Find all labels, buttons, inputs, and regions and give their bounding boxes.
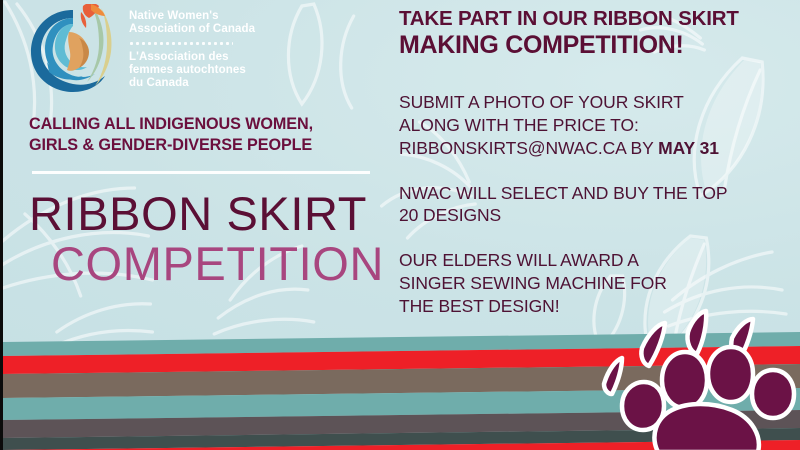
submit-email-line: RIBBONSKIRTS@NWAC.CA BY MAY 31: [399, 137, 789, 160]
page-subtitle: COMPETITION: [51, 240, 389, 288]
logo-line-en-2: Association of Canada: [129, 23, 255, 36]
headline-line-2: MAKING COMPETITION!: [399, 32, 789, 60]
nwac-logo: Native Women's Association of Canada L'A…: [25, 4, 255, 96]
bear-paw-icon: [586, 320, 796, 450]
select-line-2: 20 DESIGNS: [399, 204, 789, 227]
logo-beaded-divider: [129, 41, 233, 46]
selection-info: NWAC WILL SELECT AND BUY THE TOP 20 DESI…: [399, 182, 789, 228]
submit-line-2: ALONG WITH THE PRICE TO:: [399, 114, 789, 137]
elders-line-1: OUR ELDERS WILL AWARD A: [399, 249, 789, 272]
select-line-1: NWAC WILL SELECT AND BUY THE TOP: [399, 182, 789, 205]
calling-line-1: CALLING ALL INDIGENOUS WOMEN,: [29, 114, 389, 135]
nwac-logo-text: Native Women's Association of Canada L'A…: [129, 4, 255, 89]
logo-line-fr-1: L'Association des: [129, 51, 255, 64]
contact-email: RIBBONSKIRTS@NWAC.CA BY: [399, 138, 658, 158]
nwac-logo-icon: [25, 4, 121, 96]
elders-line-3: THE BEST DESIGN!: [399, 295, 789, 318]
submit-instructions: SUBMIT A PHOTO OF YOUR SKIRT ALONG WITH …: [399, 91, 789, 159]
calling-audience: CALLING ALL INDIGENOUS WOMEN, GIRLS & GE…: [29, 114, 389, 157]
page-title: RIBBON SKIRT: [29, 190, 389, 238]
logo-line-fr-3: du Canada: [129, 77, 255, 90]
elders-prize-info: OUR ELDERS WILL AWARD A SINGER SEWING MA…: [399, 249, 789, 317]
headline-line-1: TAKE PART IN OUR RIBBON SKIRT: [399, 8, 789, 31]
white-divider-rule: [32, 171, 370, 174]
logo-line-fr-2: femmes autochtones: [129, 64, 255, 77]
left-content-column: CALLING ALL INDIGENOUS WOMEN, GIRLS & GE…: [29, 114, 389, 288]
poster-canvas: Native Women's Association of Canada L'A…: [0, 0, 800, 450]
elders-line-2: SINGER SEWING MACHINE FOR: [399, 272, 789, 295]
logo-line-en-1: Native Women's: [129, 10, 255, 23]
right-content-column: TAKE PART IN OUR RIBBON SKIRT MAKING COM…: [399, 8, 789, 317]
deadline-date: MAY 31: [658, 138, 719, 158]
submit-line-1: SUBMIT A PHOTO OF YOUR SKIRT: [399, 91, 789, 114]
calling-line-2: GIRLS & GENDER-DIVERSE PEOPLE: [29, 135, 389, 156]
